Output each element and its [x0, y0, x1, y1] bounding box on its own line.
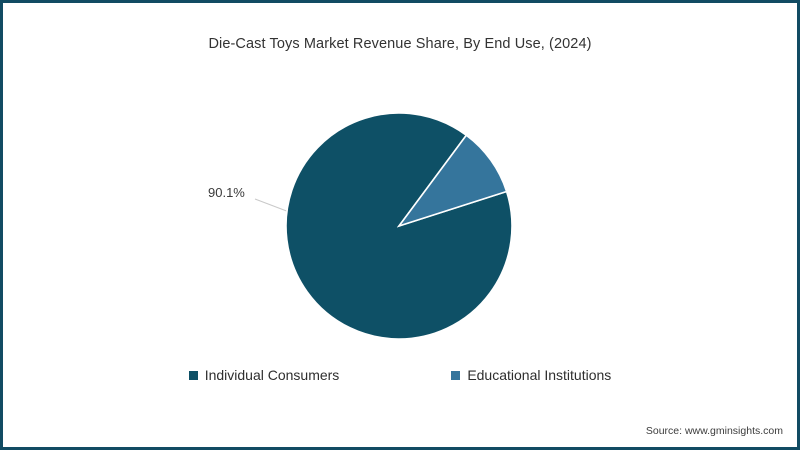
legend-swatch-icon	[189, 371, 198, 380]
pie-slice-individual-consumers[interactable]	[286, 113, 512, 339]
chart-canvas: Die-Cast Toys Market Revenue Share, By E…	[0, 0, 800, 450]
percent-leader-line	[255, 199, 305, 218]
legend-item-label: Educational Institutions	[467, 367, 611, 383]
percent-label-individual-consumers: 90.1%	[208, 185, 245, 200]
legend-item-individual-consumers[interactable]: Individual Consumers	[189, 367, 340, 383]
pie-slice-educational-institutions[interactable]	[399, 135, 507, 226]
chart-legend: Individual Consumers Educational Institu…	[3, 367, 797, 383]
chart-title: Die-Cast Toys Market Revenue Share, By E…	[3, 36, 797, 52]
legend-item-label: Individual Consumers	[205, 367, 340, 383]
source-attribution: Source: www.gminsights.com	[646, 425, 783, 437]
legend-item-educational-institutions[interactable]: Educational Institutions	[451, 367, 611, 383]
legend-swatch-icon	[451, 371, 460, 380]
